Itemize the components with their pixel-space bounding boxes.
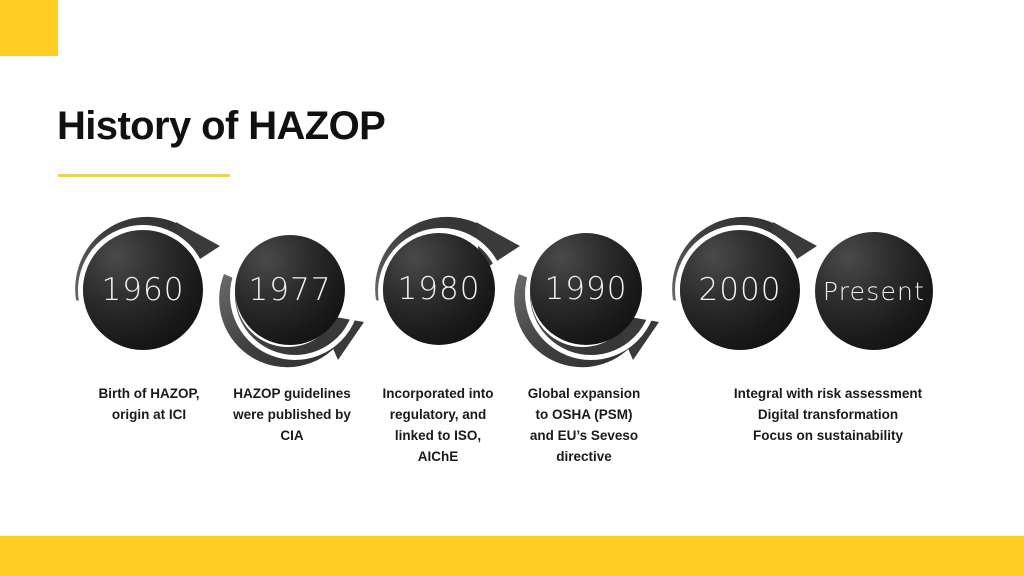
timeline-caption-1977: HAZOP guidelines were published by CIA — [218, 384, 366, 447]
timeline-diagram: 1960 1977 — [0, 0, 1024, 576]
timeline-caption-1990: Global expansion to OSHA (PSM) and EU’s … — [512, 384, 656, 468]
timeline-node-label: 1977 — [249, 275, 332, 306]
timeline-node-present[interactable]: Present — [815, 232, 933, 350]
timeline-caption-2000: Integral with risk assessment Digital tr… — [688, 384, 968, 447]
slide-canvas: History of HAZOP 1960 — [0, 0, 1024, 576]
timeline-node-1980[interactable]: 1980 — [383, 233, 495, 345]
timeline-node-1977[interactable]: 1977 — [235, 235, 345, 345]
timeline-node-label: Present — [823, 279, 925, 304]
timeline-node-label: 1980 — [398, 274, 481, 305]
timeline-caption-1960: Birth of HAZOP, origin at ICI — [78, 384, 220, 426]
timeline-node-2000[interactable]: 2000 — [680, 230, 800, 350]
timeline-node-label: 2000 — [699, 275, 782, 306]
timeline-node-label: 1960 — [102, 275, 185, 306]
yellow-bottom-bar — [0, 536, 1024, 576]
timeline-node-1960[interactable]: 1960 — [83, 230, 203, 350]
timeline-caption-1980: Incorporated into regulatory, and linked… — [368, 384, 508, 468]
timeline-node-1990[interactable]: 1990 — [530, 233, 642, 345]
timeline-node-label: 1990 — [545, 274, 628, 305]
